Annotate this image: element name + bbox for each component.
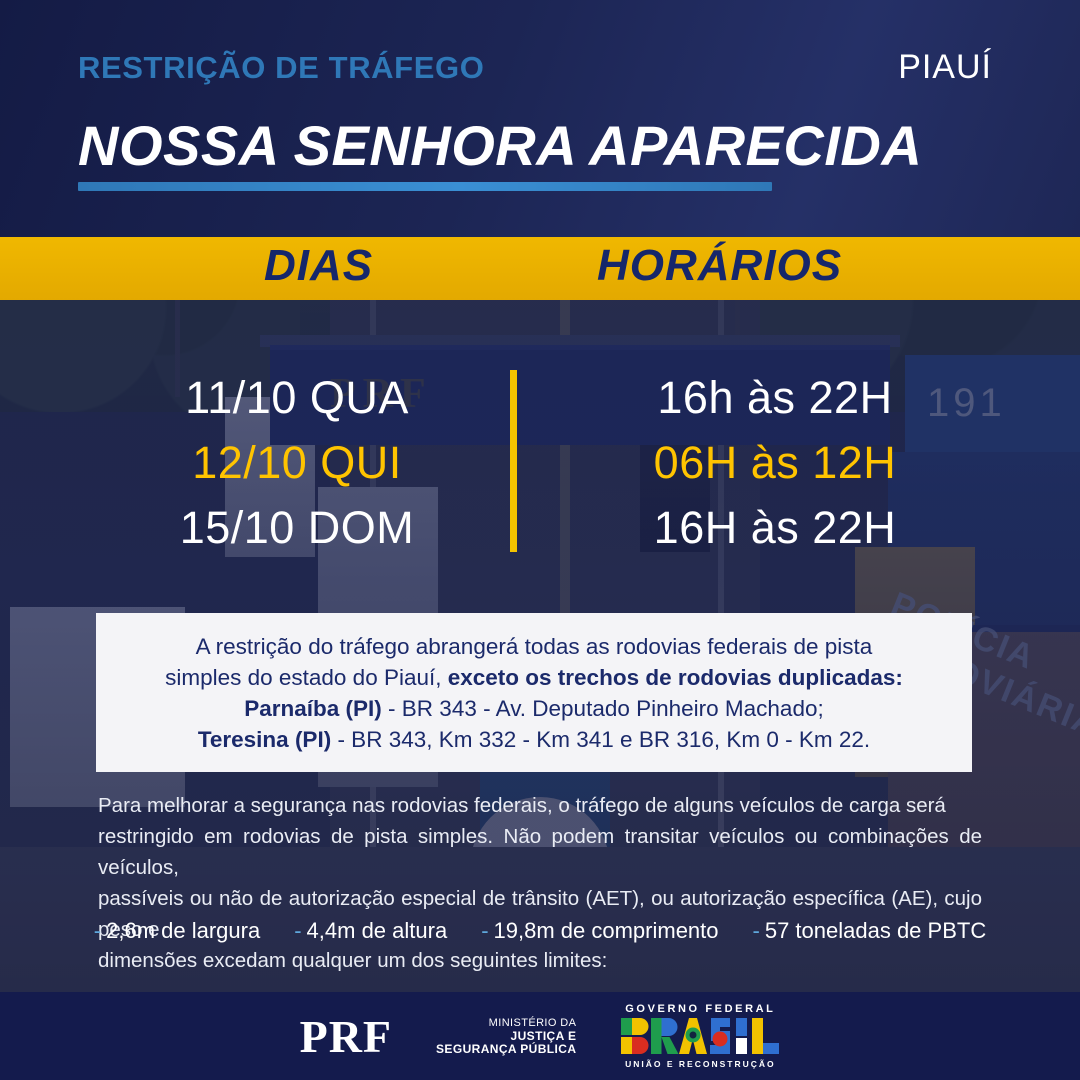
infobox-line-1-text: A restrição do tráfego abrangerá todas a…	[196, 634, 873, 659]
infobox-line-3: Parnaíba (PI) - BR 343 - Av. Deputado Pi…	[244, 693, 823, 724]
governo-federal-label: GOVERNO FEDERAL	[620, 1003, 780, 1015]
infobox-city-teresina: Teresina (PI)	[198, 727, 331, 752]
schedule-table: 11/10 QUA 12/10 QUI 15/10 DOM 16h às 22H…	[0, 300, 1080, 600]
limit-item: -4,4m de altura	[294, 918, 447, 944]
limit-item-label: 19,8m de comprimento	[494, 918, 719, 943]
schedule-day-1: 11/10 QUA	[82, 372, 512, 424]
column-header-horarios: HORÁRIOS	[597, 241, 842, 291]
schedule-time-1: 16h às 22H	[560, 372, 990, 424]
ministry-line-3: SEGURANÇA PÚBLICA	[436, 1043, 576, 1056]
paragraph-line-4: dimensões excedam qualquer um dos seguin…	[98, 945, 982, 976]
brasil-wordmark-icon	[620, 1015, 780, 1057]
state-label: PIAUÍ	[898, 48, 992, 87]
infobox-line-2: simples do estado do Piauí, exceto os tr…	[165, 662, 903, 693]
infobox-line-2-bold: exceto os trechos de rodovias duplicadas…	[448, 665, 903, 690]
ministry-logo: MINISTÉRIO DA JUSTIÇA E SEGURANÇA PÚBLIC…	[436, 1017, 576, 1056]
limit-item: -57 toneladas de PBTC	[753, 918, 987, 944]
explanatory-paragraph: Para melhorar a segurança nas rodovias f…	[98, 790, 982, 976]
page-title: NOSSA SENHORA APARECIDA	[78, 113, 922, 178]
limit-item-label: 2,6m de largura	[106, 918, 260, 943]
title-underline	[78, 182, 772, 191]
infobox-line-4: Teresina (PI) - BR 343, Km 332 - Km 341 …	[198, 724, 870, 755]
paragraph-line-2: restringido em rodovias de pista simples…	[98, 821, 982, 883]
kicker-label: RESTRIÇÃO DE TRÁFEGO	[78, 50, 484, 86]
column-header-dias: DIAS	[264, 241, 373, 291]
schedule-day-3: 15/10 DOM	[82, 502, 512, 554]
infobox-line-3-text: - BR 343 - Av. Deputado Pinheiro Machado…	[382, 696, 824, 721]
poster-footer: PRF MINISTÉRIO DA JUSTIÇA E SEGURANÇA PÚ…	[0, 992, 1080, 1080]
traffic-restriction-poster: PRF 191 POLÍCIA RODOVIÁRIA RESTRIÇÃO DE …	[0, 0, 1080, 1080]
poster-header: RESTRIÇÃO DE TRÁFEGO PIAUÍ NOSSA SENHORA…	[0, 0, 1080, 237]
infobox-line-2-text: simples do estado do Piauí,	[165, 665, 448, 690]
governo-federal-logo: GOVERNO FEDERAL	[620, 1003, 780, 1069]
schedule-time-2: 06H às 12H	[560, 437, 990, 489]
bullet-dash-icon: -	[94, 918, 101, 943]
paragraph-line-1: Para melhorar a segurança nas rodovias f…	[98, 790, 982, 821]
column-headers-band: DIAS HORÁRIOS	[0, 237, 1080, 300]
ministry-line-2: JUSTIÇA E	[436, 1030, 576, 1043]
limit-item: -2,6m de largura	[94, 918, 260, 944]
ministry-line-1: MINISTÉRIO DA	[436, 1017, 576, 1030]
infobox-city-parnaiba: Parnaíba (PI)	[244, 696, 382, 721]
infobox-line-1: A restrição do tráfego abrangerá todas a…	[196, 631, 873, 662]
schedule-time-3: 16H às 22H	[560, 502, 990, 554]
bullet-dash-icon: -	[753, 918, 760, 943]
infobox-line-4-text: - BR 343, Km 332 - Km 341 e BR 316, Km 0…	[331, 727, 870, 752]
limits-list: -2,6m de largura -4,4m de altura -19,8m …	[98, 918, 982, 944]
limit-item-label: 4,4m de altura	[307, 918, 448, 943]
limit-item: -19,8m de comprimento	[481, 918, 718, 944]
exception-info-box: A restrição do tráfego abrangerá todas a…	[96, 613, 972, 772]
limit-item-label: 57 toneladas de PBTC	[765, 918, 986, 943]
schedule-day-2: 12/10 QUI	[82, 437, 512, 489]
bullet-dash-icon: -	[294, 918, 301, 943]
bullet-dash-icon: -	[481, 918, 488, 943]
prf-logo: PRF	[300, 1010, 392, 1063]
uniao-reconstrucao-label: UNIÃO E RECONSTRUÇÃO	[620, 1059, 780, 1069]
